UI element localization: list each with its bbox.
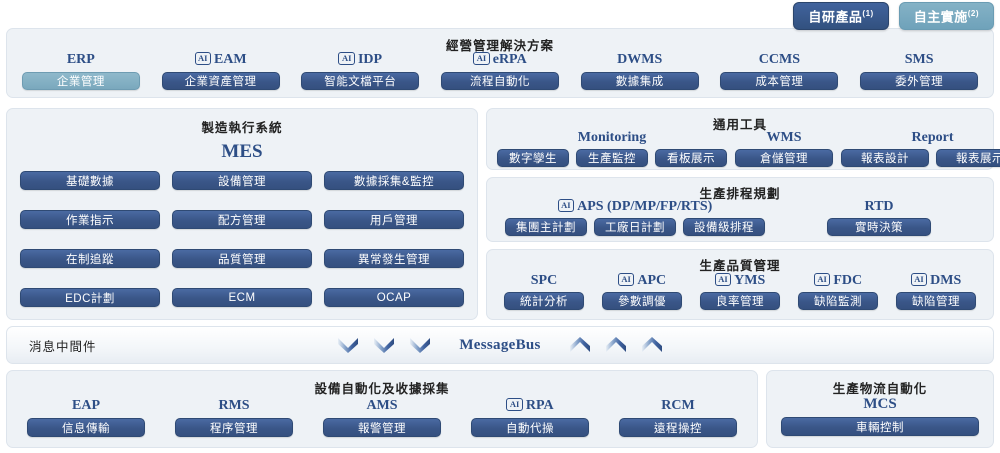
acronym-label: SMS bbox=[905, 51, 934, 68]
tools-group-monitoring: Monitoring數字孿生生產監控看板展示 bbox=[497, 129, 727, 167]
tools-chips: 數字孿生生產監控看板展示 bbox=[497, 149, 727, 167]
tools-chip-0-1[interactable]: 生產監控 bbox=[576, 149, 648, 167]
tools-chip-0-0[interactable]: 數字孿生 bbox=[497, 149, 569, 167]
legend-note: (1) bbox=[862, 9, 873, 18]
solution-column-erp: ERP企業管理 bbox=[17, 51, 145, 90]
quality-chip-3-0[interactable]: 缺陷監測 bbox=[798, 292, 878, 310]
equipment-column-rms: RMS程序管理 bbox=[167, 397, 301, 437]
chevron-down-group bbox=[337, 336, 431, 354]
mes-module-4[interactable]: 配方管理 bbox=[172, 210, 312, 229]
quality-acronym-apc: AIAPC bbox=[618, 272, 666, 289]
tools-acronym-monitoring: Monitoring bbox=[578, 129, 646, 146]
acronym-label: APC bbox=[637, 272, 666, 289]
acronym-label: DMS bbox=[930, 272, 961, 289]
ai-icon: AI bbox=[618, 273, 634, 287]
mes-module-9[interactable]: EDC計劃 bbox=[20, 288, 160, 307]
equipment-column-ams: AMS報警管理 bbox=[315, 397, 449, 437]
solution-column-erpa: AIeRPA流程自動化 bbox=[436, 51, 564, 90]
tools-group-wms: WMS倉儲管理 bbox=[735, 129, 833, 167]
quality-acronym-yms: AIYMS bbox=[715, 272, 766, 289]
equipment-acronym-rms: RMS bbox=[218, 397, 249, 414]
solution-acronym-erp: ERP bbox=[67, 51, 95, 68]
tools-chip-0-2[interactable]: 看板展示 bbox=[655, 149, 727, 167]
section-title-equipment-automation: 設備自動化及收據採集 bbox=[7, 378, 757, 397]
equipment-chip-rcm[interactable]: 遠程操控 bbox=[619, 418, 737, 437]
equipment-acronym-rcm: RCM bbox=[661, 397, 694, 414]
solution-acronym-dwms: DWMS bbox=[617, 51, 662, 68]
section-production-quality: 生產品質管理 SPC統計分析AIAPC參數調優AIYMS良率管理AIFDC缺陷監… bbox=[486, 249, 994, 320]
mes-module-3[interactable]: 作業指示 bbox=[20, 210, 160, 229]
solution-column-dwms: DWMS數據集成 bbox=[576, 51, 704, 90]
mes-module-grid: 基礎數據設備管理數據採集&監控作業指示配方管理用戶管理在制追蹤品質管理異常發生管… bbox=[20, 171, 464, 307]
acronym-label: APS (DP/MP/FP/RTS) bbox=[577, 198, 712, 215]
mes-module-7[interactable]: 品質管理 bbox=[172, 249, 312, 268]
acronym-label: AMS bbox=[366, 397, 397, 414]
solution-chip-sms[interactable]: 委外管理 bbox=[860, 72, 978, 90]
equipment-chip-eap[interactable]: 信息傳輸 bbox=[27, 418, 145, 437]
solution-chip-eam[interactable]: 企業資產管理 bbox=[162, 72, 280, 90]
section-general-tools: 通用工具 Monitoring數字孿生生產監控看板展示WMS倉儲管理Report… bbox=[486, 108, 994, 170]
solution-chip-dwms[interactable]: 數據集成 bbox=[581, 72, 699, 90]
mes-module-5[interactable]: 用戶管理 bbox=[324, 210, 464, 229]
mes-acronym: MES bbox=[7, 141, 477, 163]
legend-note: (2) bbox=[968, 9, 979, 18]
scheduling-chip-1-0[interactable]: 實時決策 bbox=[827, 218, 931, 236]
equipment-acronym-ams: AMS bbox=[366, 397, 397, 414]
acronym-label: SPC bbox=[531, 272, 557, 289]
legend-pill-2[interactable]: 自主實施(2) bbox=[899, 2, 994, 30]
acronym-label: FDC bbox=[833, 272, 862, 289]
quality-chip-0-0[interactable]: 統計分析 bbox=[504, 292, 584, 310]
quality-group-spc: SPC統計分析 bbox=[504, 272, 584, 310]
scheduling-chips: 實時決策 bbox=[827, 218, 931, 236]
equipment-column-eap: EAP信息傳輸 bbox=[19, 397, 153, 437]
section-equipment-automation: 設備自動化及收據採集 EAP信息傳輸RMS程序管理AMS報警管理AIRPA自動代… bbox=[6, 370, 758, 448]
solution-column-idp: AIIDP智能文檔平台 bbox=[296, 51, 424, 90]
equipment-column-rpa: AIRPA自動代操 bbox=[463, 397, 597, 437]
chevron-down-icon bbox=[409, 336, 431, 354]
solution-chip-idp[interactable]: 智能文檔平台 bbox=[301, 72, 419, 90]
architecture-diagram: 自研產品(1)自主實施(2) 經營管理解決方案 ERP企業管理AIEAM企業資產… bbox=[0, 0, 1000, 453]
section-mes: 製造執行系統 MES 基礎數據設備管理數據採集&監控作業指示配方管理用戶管理在制… bbox=[6, 108, 478, 320]
quality-group-apc: AIAPC參數調優 bbox=[602, 272, 682, 310]
quality-chip-1-0[interactable]: 參數調優 bbox=[602, 292, 682, 310]
chevron-up-group bbox=[569, 336, 663, 354]
ai-icon: AI bbox=[814, 273, 830, 287]
acronym-label: RTD bbox=[864, 198, 893, 215]
tools-chip-2-1[interactable]: 報表展示 bbox=[936, 149, 1000, 167]
scheduling-group-rtd: RTD實時決策 bbox=[827, 198, 931, 236]
acronym-label: EAM bbox=[214, 51, 247, 68]
scheduling-acronym-rtd: RTD bbox=[864, 198, 893, 215]
ai-icon: AI bbox=[338, 52, 354, 66]
section-logistics-automation: 生產物流自動化 MCS 車輛控制 bbox=[766, 370, 994, 448]
production-scheduling-groups: AIAPS (DP/MP/FP/RTS)集團主計劃工廠日計劃設備級排程RTD實時… bbox=[495, 198, 985, 236]
legend: 自研產品(1)自主實施(2) bbox=[793, 2, 994, 30]
equipment-chip-ams[interactable]: 報警管理 bbox=[323, 418, 441, 437]
acronym-label: RPA bbox=[526, 397, 554, 414]
chevron-down-icon bbox=[337, 336, 359, 354]
logistics-chip-vehicle-control[interactable]: 車輛控制 bbox=[781, 417, 979, 436]
equipment-chip-rms[interactable]: 程序管理 bbox=[175, 418, 293, 437]
solution-chip-ccms[interactable]: 成本管理 bbox=[720, 72, 838, 90]
quality-chips: 參數調優 bbox=[602, 292, 682, 310]
scheduling-chip-0-2[interactable]: 設備級排程 bbox=[683, 218, 765, 236]
equipment-chip-rpa[interactable]: 自動代操 bbox=[471, 418, 589, 437]
chevron-up-icon bbox=[641, 336, 663, 354]
general-tools-groups: Monitoring數字孿生生產監控看板展示WMS倉儲管理Report報表設計報… bbox=[495, 129, 985, 167]
ai-icon: AI bbox=[558, 199, 574, 213]
mes-module-10[interactable]: ECM bbox=[172, 288, 312, 307]
mes-module-8[interactable]: 異常發生管理 bbox=[324, 249, 464, 268]
acronym-label: Report bbox=[912, 129, 954, 146]
section-business-solutions: 經營管理解決方案 ERP企業管理AIEAM企業資產管理AIIDP智能文檔平台AI… bbox=[6, 28, 994, 98]
quality-chips: 統計分析 bbox=[504, 292, 584, 310]
tools-chips: 報表設計報表展示 bbox=[841, 149, 1000, 167]
section-message-bus: 消息中間件 MessageBus bbox=[6, 326, 994, 364]
acronym-label: CCMS bbox=[759, 51, 800, 68]
mes-module-6[interactable]: 在制追蹤 bbox=[20, 249, 160, 268]
solution-acronym-ccms: CCMS bbox=[759, 51, 800, 68]
section-title-logistics-automation: 生產物流自動化 bbox=[767, 378, 993, 397]
quality-chips: 缺陷管理 bbox=[896, 292, 976, 310]
equipment-automation-grid: EAP信息傳輸RMS程序管理AMS報警管理AIRPA自動代操RCM遠程操控 bbox=[19, 397, 745, 437]
section-title-mes: 製造執行系統 bbox=[7, 117, 477, 136]
solution-column-sms: SMS委外管理 bbox=[855, 51, 983, 90]
mes-module-0[interactable]: 基礎數據 bbox=[20, 171, 160, 190]
tools-acronym-report: Report bbox=[912, 129, 954, 146]
acronym-label: EAP bbox=[72, 397, 100, 414]
ai-icon: AI bbox=[506, 398, 522, 412]
section-production-scheduling: 生產排程規劃 AIAPS (DP/MP/FP/RTS)集團主計劃工廠日計劃設備級… bbox=[486, 177, 994, 242]
acronym-label: YMS bbox=[734, 272, 765, 289]
acronym-label: RCM bbox=[661, 397, 694, 414]
acronym-label: DWMS bbox=[617, 51, 662, 68]
legend-pill-1[interactable]: 自研產品(1) bbox=[793, 2, 888, 30]
solution-acronym-eam: AIEAM bbox=[195, 51, 247, 68]
tools-chips: 倉儲管理 bbox=[735, 149, 833, 167]
quality-chip-2-0[interactable]: 良率管理 bbox=[700, 292, 780, 310]
business-solutions-grid: ERP企業管理AIEAM企業資產管理AIIDP智能文檔平台AIeRPA流程自動化… bbox=[17, 51, 983, 90]
quality-acronym-fdc: AIFDC bbox=[814, 272, 862, 289]
message-bus-name: MessageBus bbox=[459, 337, 540, 354]
chevron-up-icon bbox=[569, 336, 591, 354]
quality-chip-4-0[interactable]: 缺陷管理 bbox=[896, 292, 976, 310]
quality-chips: 缺陷監測 bbox=[798, 292, 878, 310]
legend-label: 自主實施 bbox=[914, 9, 968, 24]
acronym-label: Monitoring bbox=[578, 129, 646, 146]
chevron-up-icon bbox=[605, 336, 627, 354]
acronym-label: IDP bbox=[358, 51, 382, 68]
quality-group-dms: AIDMS缺陷管理 bbox=[896, 272, 976, 310]
tools-acronym-wms: WMS bbox=[767, 129, 802, 146]
scheduling-chip-0-0[interactable]: 集團主計劃 bbox=[505, 218, 587, 236]
mes-module-2[interactable]: 數據採集&監控 bbox=[324, 171, 464, 190]
solution-acronym-erpa: AIeRPA bbox=[473, 51, 526, 68]
mes-module-1[interactable]: 設備管理 bbox=[172, 171, 312, 190]
quality-acronym-dms: AIDMS bbox=[911, 272, 962, 289]
scheduling-acronym-aps: AIAPS (DP/MP/FP/RTS) bbox=[558, 198, 713, 215]
quality-chips: 良率管理 bbox=[700, 292, 780, 310]
logistics-acronym: MCS bbox=[767, 396, 993, 413]
scheduling-chip-0-1[interactable]: 工廠日計劃 bbox=[594, 218, 676, 236]
chevron-down-icon bbox=[373, 336, 395, 354]
tools-chip-1-0[interactable]: 倉儲管理 bbox=[735, 149, 833, 167]
ai-icon: AI bbox=[195, 52, 211, 66]
message-bus-center: MessageBus bbox=[7, 327, 993, 363]
solution-chip-erp[interactable]: 企業管理 bbox=[22, 72, 140, 90]
scheduling-chips: 集團主計劃工廠日計劃設備級排程 bbox=[505, 218, 765, 236]
production-quality-groups: SPC統計分析AIAPC參數調優AIYMS良率管理AIFDC缺陷監測AIDMS缺… bbox=[495, 272, 985, 310]
equipment-acronym-eap: EAP bbox=[72, 397, 100, 414]
ai-icon: AI bbox=[715, 273, 731, 287]
solution-acronym-sms: SMS bbox=[905, 51, 934, 68]
tools-group-report: Report報表設計報表展示 bbox=[841, 129, 1000, 167]
ai-icon: AI bbox=[911, 273, 927, 287]
acronym-label: RMS bbox=[218, 397, 249, 414]
quality-group-yms: AIYMS良率管理 bbox=[700, 272, 780, 310]
scheduling-group-aps: AIAPS (DP/MP/FP/RTS)集團主計劃工廠日計劃設備級排程 bbox=[505, 198, 765, 236]
equipment-acronym-rpa: AIRPA bbox=[506, 397, 553, 414]
acronym-label: eRPA bbox=[493, 51, 527, 68]
equipment-column-rcm: RCM遠程操控 bbox=[611, 397, 745, 437]
quality-acronym-spc: SPC bbox=[531, 272, 557, 289]
acronym-label: WMS bbox=[767, 129, 802, 146]
solution-acronym-idp: AIIDP bbox=[338, 51, 382, 68]
legend-label: 自研產品 bbox=[808, 9, 862, 24]
mes-module-11[interactable]: OCAP bbox=[324, 288, 464, 307]
quality-group-fdc: AIFDC缺陷監測 bbox=[798, 272, 878, 310]
acronym-label: ERP bbox=[67, 51, 95, 68]
solution-column-eam: AIEAM企業資產管理 bbox=[157, 51, 285, 90]
ai-icon: AI bbox=[473, 52, 489, 66]
tools-chip-2-0[interactable]: 報表設計 bbox=[841, 149, 929, 167]
solution-column-ccms: CCMS成本管理 bbox=[716, 51, 844, 90]
solution-chip-erpa[interactable]: 流程自動化 bbox=[441, 72, 559, 90]
